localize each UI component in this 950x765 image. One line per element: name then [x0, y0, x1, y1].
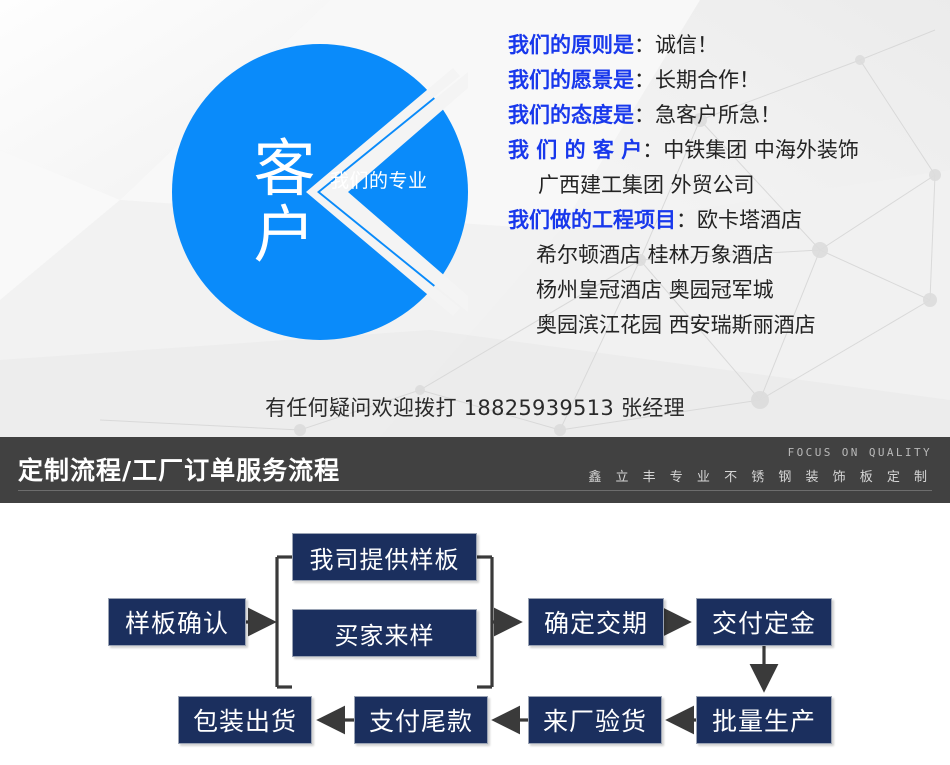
info-sep: ：: [642, 138, 663, 162]
info-line-attitude: 我们的态度是：急客户所急！: [508, 98, 938, 133]
banner-tagline-en: FOCUS ON QUALITY: [788, 446, 932, 459]
flow-node-pay-balance[interactable]: 支付尾款: [354, 696, 488, 744]
info-value: 广西建工集团 外贸公司: [538, 173, 755, 197]
info-label: 我们做的工程项目: [508, 208, 676, 232]
section-banner: 定制流程/工厂订单服务流程 FOCUS ON QUALITY 鑫 立 丰 专 业…: [0, 437, 950, 503]
info-value: 中铁集团 中海外装饰: [663, 138, 859, 162]
customer-pie-graphic: 客户 我们的专业: [172, 44, 468, 340]
info-line-projects: 我们做的工程项目：欧卡塔酒店: [508, 203, 938, 238]
info-line-projects-4: 奥园滨江花园 西安瑞斯丽酒店: [508, 308, 938, 343]
info-value: 杨州皇冠酒店 奥园冠军城: [536, 278, 774, 302]
flow-node-label: 样板确认: [125, 604, 229, 640]
info-line-clients-cont: 广西建工集团 外贸公司: [508, 168, 938, 203]
info-label: 我们的态度是: [508, 103, 634, 127]
info-value: 欧卡塔酒店: [697, 208, 802, 232]
company-info-list: 我们的原则是：诚信！ 我们的愿景是：长期合作！ 我们的态度是：急客户所急！ 我 …: [508, 28, 938, 343]
info-sep: ：: [634, 103, 655, 127]
info-line-vision: 我们的愿景是：长期合作！: [508, 63, 938, 98]
info-label: 我们的愿景是: [508, 68, 634, 92]
banner-title: 定制流程/工厂订单服务流程: [18, 451, 340, 487]
info-line-principle: 我们的原则是：诚信！: [508, 28, 938, 63]
hero-section: 客户 我们的专业 我们的原则是：诚信！ 我们的愿景是：长期合作！ 我们的态度是：…: [0, 0, 950, 437]
banner-divider: [18, 490, 932, 491]
info-label: 我们的原则是: [508, 33, 634, 57]
flow-node-label: 确定交期: [544, 604, 648, 640]
info-line-projects-2: 希尔顿酒店 桂林万象酒店: [508, 238, 938, 273]
info-value: 诚信！: [655, 33, 718, 57]
flow-node-label: 我司提供样板: [310, 540, 460, 575]
info-sep: ：: [634, 68, 655, 92]
info-label: 我 们 的 客 户: [508, 138, 642, 162]
info-value: 希尔顿酒店 桂林万象酒店: [536, 243, 774, 267]
info-value: 奥园滨江花园 西安瑞斯丽酒店: [536, 313, 816, 337]
banner-tagline-cn: 鑫 立 丰 专 业 不 锈 钢 装 饰 板 定 制: [588, 466, 932, 485]
flow-node-label: 包装出货: [193, 702, 297, 738]
flow-node-label: 支付尾款: [369, 702, 473, 738]
flow-node-factory-inspection[interactable]: 来厂验货: [528, 696, 662, 744]
info-sep: ：: [676, 208, 697, 232]
pie-center-label: 客户: [230, 136, 340, 268]
pie-wedge-label: 我们的专业: [330, 166, 460, 193]
process-flowchart: 样板确认 我司提供样板 买家来样 确定交期 交付定金 批量生产 来厂验货 支付尾…: [0, 503, 950, 765]
info-sep: ：: [634, 33, 655, 57]
info-value: 长期合作！: [655, 68, 760, 92]
info-line-clients: 我 们 的 客 户：中铁集团 中海外装饰: [508, 133, 938, 168]
flow-node-confirm-delivery[interactable]: 确定交期: [528, 598, 664, 646]
flow-node-buyer-sample[interactable]: 买家来样: [292, 609, 477, 657]
info-value: 急客户所急！: [655, 103, 781, 127]
page-root: 客户 我们的专业 我们的原则是：诚信！ 我们的愿景是：长期合作！ 我们的态度是：…: [0, 0, 950, 765]
flow-node-sample-confirm[interactable]: 样板确认: [108, 598, 246, 646]
flow-node-label: 批量生产: [712, 702, 816, 738]
flow-node-we-provide-sample[interactable]: 我司提供样板: [292, 533, 477, 581]
flow-node-label: 买家来样: [335, 616, 435, 651]
flow-node-pay-deposit[interactable]: 交付定金: [696, 598, 832, 646]
flow-node-mass-production[interactable]: 批量生产: [696, 696, 832, 744]
info-line-projects-3: 杨州皇冠酒店 奥园冠军城: [508, 273, 938, 308]
contact-phone-line: 有任何疑问欢迎拨打 18825939513 张经理: [0, 392, 950, 422]
flow-node-pack-and-ship[interactable]: 包装出货: [178, 696, 312, 744]
flow-node-label: 来厂验货: [543, 702, 647, 738]
flow-node-label: 交付定金: [712, 604, 816, 640]
